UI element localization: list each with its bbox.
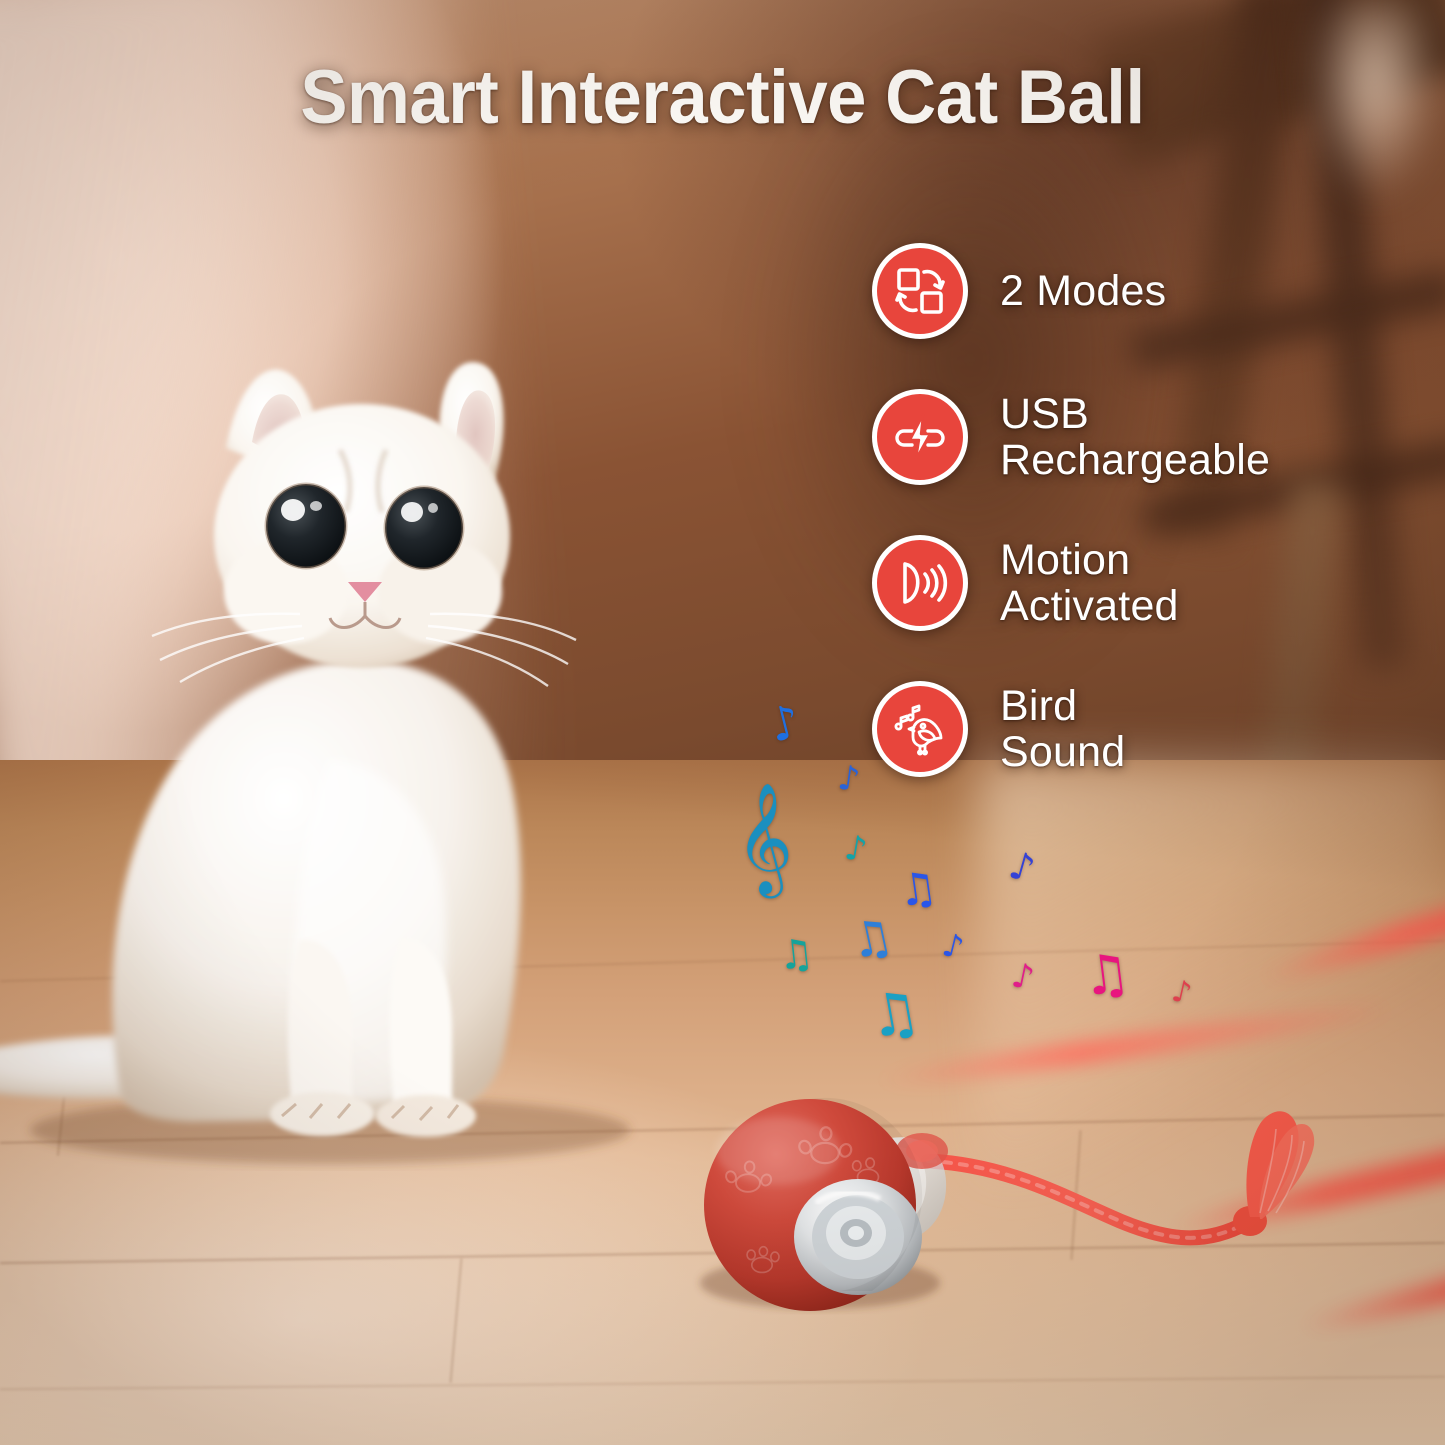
product-marketing-image: ♪♪𝄞♪♫♪♫♪♫♫♪♫♪ Smart Interactive Cat Ball…: [0, 0, 1445, 1445]
vignette-overlay: [0, 0, 1445, 1445]
